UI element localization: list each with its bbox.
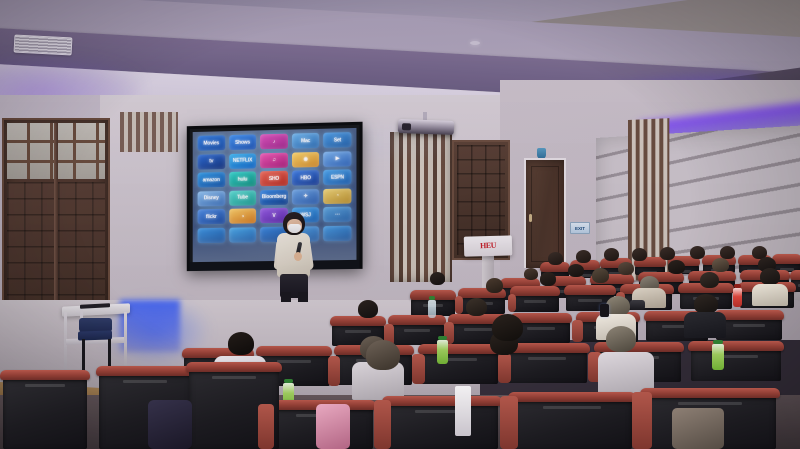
bottle-cap [284,379,293,383]
seat-number-plate [678,402,741,405]
seat-number-plate [345,330,370,333]
seat-armrest [500,396,518,449]
app-icon: hulu [229,171,256,187]
drink-bottle [712,344,724,370]
app-icon: ♫ [260,152,288,168]
seat-back [512,294,559,312]
seat-armrest [455,296,463,314]
lecture-hall-photo: EXIT MoviesShows♪MacSettvNETFLIX♫◉▶amazo… [0,0,800,449]
door-handle-icon[interactable] [529,214,532,222]
door-panel-inset [531,166,559,262]
drink-bottle [733,288,742,307]
seat [688,341,784,381]
audience-head [366,340,400,370]
app-icon: flickr [198,209,225,224]
seat-crown-rail [388,315,446,325]
seat-crown-rail [688,341,784,351]
bottle-cap [438,336,447,340]
seat-armrest [258,404,274,449]
app-icon: amazon [198,172,225,187]
audience-head [430,272,445,285]
seat-number-plate [578,299,601,302]
seat-crown-rail [382,396,502,406]
exit-sign: EXIT [570,222,590,234]
seat-crown-rail [186,362,282,372]
seat-number-plate [123,380,167,383]
seat-armrest [412,354,425,384]
app-icon: ◉ [292,151,320,167]
app-icon: ◑ [229,208,256,223]
smartphone-icon [600,304,609,317]
seat-armrest [374,400,391,449]
app-icon: NETFLIX [229,153,256,169]
drink-bottle [437,340,448,364]
seat-number-plate [527,327,555,330]
ceiling-projector [398,119,454,135]
audience-head [690,246,705,259]
app-icon: ⋯ [324,207,352,223]
audience-head [568,264,584,277]
audience-torso [752,284,788,306]
seat-crown-rail [508,392,636,402]
app-icon: ◔ [324,188,352,204]
seat [418,344,500,384]
seat-back [386,404,499,449]
seat [0,370,90,449]
seat-back [507,351,588,383]
app-icon: tv [198,154,225,170]
seat-back [420,352,497,384]
app-icon: SHO [260,171,288,187]
seat-crown-rail [510,286,560,296]
app-icon: Set [324,132,352,148]
app-icon: ♪ [260,134,288,150]
audience-head [228,332,254,355]
audience-head [576,250,591,263]
app-icon: ✈ [292,189,320,205]
audience-head [700,272,719,288]
audience-head [606,296,630,316]
drink-bottle [428,300,436,318]
seat-armrest [508,294,516,312]
lattice-mullion [54,123,58,328]
screen-surface: MoviesShows♪MacSettvNETFLIX♫◉▶amazonhulu… [193,128,357,265]
audience-head [492,314,523,341]
app-icon: Bloomberg [260,189,288,205]
podium-logo: HEU [469,240,507,252]
seat-armrest [498,353,511,383]
app-icon: Disney [198,190,225,205]
pink-bag [316,404,350,449]
audience-head [604,248,619,261]
seat-number-plate [404,329,430,332]
seat-crown-rail [96,366,194,376]
auditorium-side-door[interactable] [524,158,566,268]
app-icon: ▶ [324,151,352,167]
lectern-podium: HEU [464,235,513,256]
seat-crown-rail [330,316,386,326]
audience-head [606,326,636,352]
seat-crown-rail [564,285,616,295]
audience-head [540,272,556,286]
audience-head [712,258,729,272]
bottle-cap [713,340,723,344]
audience-head [720,246,735,259]
presenter-leg [281,292,291,302]
seat-crown-rail [0,370,90,380]
seat [508,392,636,449]
audience-head [760,268,780,285]
seat-back [512,400,632,449]
seat [382,396,502,449]
app-icon: ESPN [324,169,352,185]
back-wall-slats-upper [120,112,178,152]
audience-head [618,262,634,275]
seat-number-plate [528,357,567,360]
seat-crown-rail [418,344,500,354]
seat-crown-rail [790,270,800,280]
seat-armrest [328,356,340,386]
ceiling-spotlight [470,41,480,45]
camera-icon [630,300,645,310]
seat-crown-rail [256,346,332,356]
presenter-leg [298,292,308,302]
seat-back [691,349,781,381]
seat-number-plate [25,384,66,387]
audience-head [694,294,718,314]
audience-torso [684,312,726,338]
projector-lens-icon [402,123,411,130]
audience-head [548,252,563,265]
audience-head [592,268,609,283]
seat-number-plate [212,376,255,379]
seat-number-plate [524,300,547,303]
app-icon-grid: MoviesShows♪MacSettvNETFLIX♫◉▶amazonhulu… [198,132,352,243]
seat-crown-rail [640,388,780,398]
seat [510,286,560,312]
seat [504,343,590,383]
bottle-cap [734,284,741,288]
app-icon: Mac [292,133,320,149]
audience-head [668,260,685,274]
presenter-hand [294,252,302,261]
seat-number-plate [733,324,765,327]
app-icon: Tube [229,190,256,205]
audience-head [486,278,503,293]
paper-handout [455,386,471,436]
app-icon: Movies [198,135,225,151]
seat-number-plate [543,406,601,409]
audience-head [632,248,647,261]
app-icon: HBO [292,170,320,186]
audience-head [358,300,378,318]
bottle-cap [429,296,435,300]
app-icon: Shows [229,134,256,150]
seat-armrest [572,320,583,342]
seat-crown-rail [772,254,800,264]
audience-head [466,298,487,316]
audience-head [660,247,675,260]
seat-back [3,378,88,449]
backpack [148,400,192,449]
bag-on-seat [672,408,724,449]
air-vent-grille-icon [14,34,73,55]
seat-number-plate [464,328,491,331]
audience-head [524,268,538,280]
seat-armrest [632,392,652,449]
